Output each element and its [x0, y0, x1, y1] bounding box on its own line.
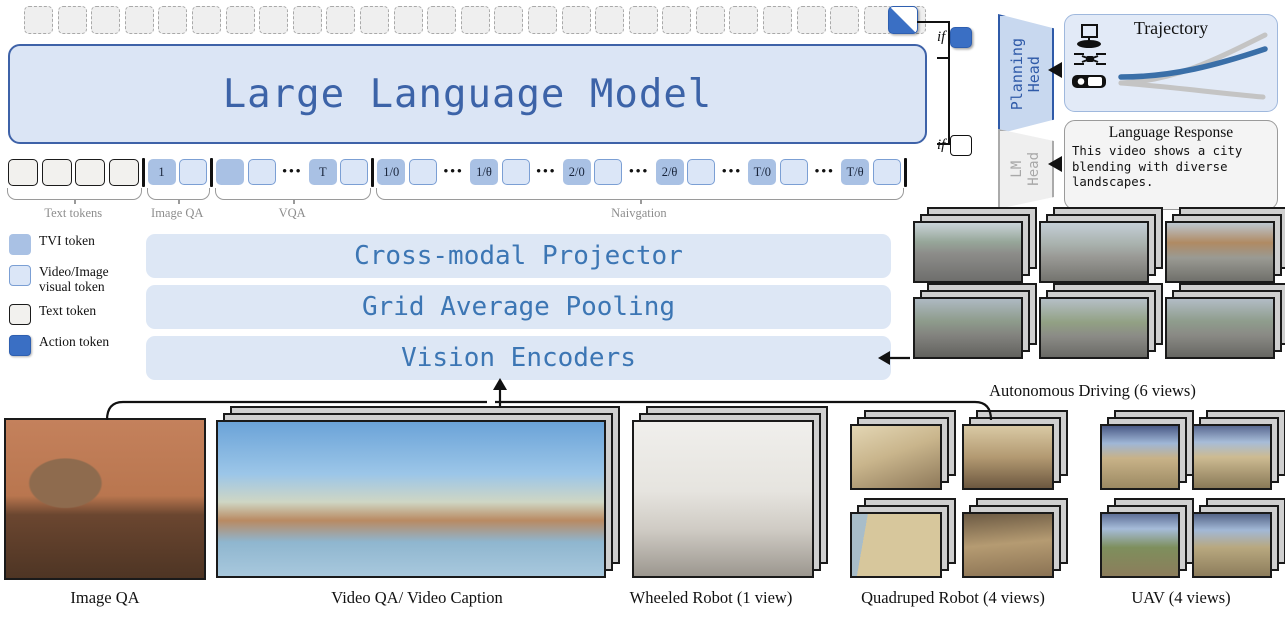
token-group-image-qa: 1: [148, 159, 208, 185]
output-placeholder-token: [259, 6, 288, 34]
legend-swatch-visual: [9, 265, 31, 286]
tvi-token: 1/0: [377, 159, 405, 185]
trajectory-curves: [1113, 31, 1273, 107]
output-placeholder-token: [662, 6, 691, 34]
visual-token: [780, 159, 808, 185]
token-group-vqa: •••T: [216, 159, 368, 185]
output-placeholder-token: [326, 6, 355, 34]
output-placeholder-token: [595, 6, 624, 34]
output-placeholder-token: [729, 6, 758, 34]
scene-image: [216, 420, 606, 578]
output-placeholder-token: [528, 6, 557, 34]
language-output-panel: Language Response This video shows a cit…: [1064, 120, 1278, 210]
if-keyword: if: [937, 29, 945, 46]
output-placeholder-token: [360, 6, 389, 34]
scene-image: [1192, 424, 1272, 490]
token-group-naivgation: 1/0•••1/θ•••2/0•••2/θ•••T/0•••T/θ: [377, 159, 900, 185]
legend-swatch-tvi: [9, 234, 31, 255]
text-token: [109, 159, 139, 186]
scene-image: [1192, 512, 1272, 578]
diagram-canvas: Large Language Model 1•••T1/0•••1/θ•••2/…: [0, 0, 1285, 621]
legend-item-visual: Video/Image visual token: [9, 264, 139, 294]
legend-label: Video/Image visual token: [39, 264, 139, 294]
input-token-row: 1•••T1/0•••1/θ•••2/0•••2/θ•••T/0•••T/θ: [8, 157, 910, 187]
bar-label: Cross-modal Projector: [354, 241, 683, 271]
output-placeholder-token: [91, 6, 120, 34]
ellipsis: •••: [279, 165, 305, 180]
visual-token: [873, 159, 901, 185]
planning-condition: if: [937, 27, 972, 48]
language-response-line: landscapes.: [1072, 175, 1272, 191]
token-group-text-tokens: [8, 159, 139, 186]
action-output-token: [888, 6, 918, 34]
bar-label: Vision Encoders: [401, 343, 636, 373]
visual-token: [340, 159, 368, 185]
scene-image: [913, 221, 1023, 283]
scene-image: [4, 418, 206, 580]
wheeled-robot-icon: [1073, 23, 1107, 49]
group-label: Naivgation: [549, 206, 729, 221]
visual-token: [594, 159, 622, 185]
visual-token: [179, 159, 207, 185]
group-brace: [215, 188, 371, 200]
token-group-separator: [142, 158, 145, 187]
action-token-swatch: [950, 27, 972, 48]
tvi-token: 2/θ: [656, 159, 684, 185]
text-token: [8, 159, 38, 186]
legend-label: Text token: [39, 303, 96, 318]
output-placeholder-token: [427, 6, 456, 34]
scene-image: [850, 512, 942, 578]
scene-image: [1165, 297, 1275, 359]
output-placeholder-token: [562, 6, 591, 34]
scene-image: [962, 512, 1054, 578]
output-placeholder-token: [293, 6, 322, 34]
scene-image: [913, 297, 1023, 359]
if-keyword: if: [937, 137, 945, 154]
scene-image: [1100, 512, 1180, 578]
visual-token: [502, 159, 530, 185]
trajectory-output-panel: Trajectory: [1064, 14, 1278, 112]
output-placeholder-token: [226, 6, 255, 34]
tvi-token: T/0: [748, 159, 776, 185]
bar-label: Grid Average Pooling: [362, 292, 675, 322]
output-placeholder-token: [24, 6, 53, 34]
tvi-token: 2/0: [563, 159, 591, 185]
quadruped-robot-caption: Quadruped Robot (4 views): [822, 588, 1084, 608]
vision-encoders-block: Vision Encoders: [146, 336, 891, 380]
scene-image: [1039, 221, 1149, 283]
group-brace: [147, 188, 211, 200]
language-response-line: This video shows a city: [1072, 144, 1272, 160]
output-placeholder-token: [830, 6, 859, 34]
visual-token: [409, 159, 437, 185]
output-token-row: [24, 6, 926, 34]
image-qa-caption: Image QA: [0, 588, 210, 608]
output-placeholder-token: [797, 6, 826, 34]
text-token-swatch: [950, 135, 972, 156]
scene-image: [1165, 221, 1275, 283]
uav-caption: UAV (4 views): [1086, 588, 1276, 608]
planning-head-label: PlanningHead: [1009, 38, 1043, 110]
cross-modal-projector-block: Cross-modal Projector: [146, 234, 891, 278]
output-placeholder-token: [494, 6, 523, 34]
token-group-separator: [210, 158, 213, 187]
drone-icon: [1070, 48, 1110, 70]
output-placeholder-token: [461, 6, 490, 34]
scene-image: [1039, 297, 1149, 359]
ellipsis: •••: [811, 165, 837, 180]
tvi-token: 1/θ: [470, 159, 498, 185]
legend-label: TVI token: [39, 233, 95, 248]
scene-image: [1100, 424, 1180, 490]
ellipsis: •••: [626, 165, 652, 180]
output-placeholder-token: [58, 6, 87, 34]
group-brace: [376, 188, 903, 200]
language-response-body: This video shows a cityblending with div…: [1072, 144, 1272, 191]
wheeled-robot-caption: Wheeled Robot (1 view): [600, 588, 822, 608]
language-response-title: Language Response: [1065, 124, 1277, 142]
llm-title: Large Language Model: [223, 72, 713, 117]
output-placeholder-token: [763, 6, 792, 34]
output-placeholder-token: [192, 6, 221, 34]
tvi-token: T: [309, 159, 337, 185]
driving-input-arrow-left: [874, 344, 914, 372]
token-legend: TVI tokenVideo/Image visual tokenText to…: [9, 233, 139, 365]
output-placeholder-token: [158, 6, 187, 34]
group-label: VQA: [202, 206, 382, 221]
tvi-token: 1: [148, 159, 176, 185]
ellipsis: •••: [533, 165, 559, 180]
data-source-bracket: [95, 398, 1105, 422]
legend-label: Action token: [39, 334, 109, 349]
tvi-token: [216, 159, 244, 185]
visual-token: [248, 159, 276, 185]
output-placeholder-token: [696, 6, 725, 34]
text-token: [75, 159, 105, 186]
legend-swatch-text: [9, 304, 31, 325]
grid-average-pooling-block: Grid Average Pooling: [146, 285, 891, 329]
token-row-end-separator: [904, 158, 907, 187]
legend-swatch-action: [9, 335, 31, 356]
language-response-line: blending with diverse: [1072, 160, 1272, 176]
lm-head-label: LMHead: [1009, 152, 1043, 186]
scene-image: [632, 420, 814, 578]
ellipsis: •••: [719, 165, 745, 180]
video-qa-caption: Video QA/ Video Caption: [212, 588, 622, 608]
tvi-token: T/θ: [841, 159, 869, 185]
output-placeholder-token: [629, 6, 658, 34]
large-language-model-block: Large Language Model: [8, 44, 927, 144]
scene-image: [850, 424, 942, 490]
legend-item-text: Text token: [9, 303, 139, 325]
scene-image: [962, 424, 1054, 490]
text-token: [42, 159, 72, 186]
car-icon: [1070, 71, 1110, 93]
output-placeholder-token: [125, 6, 154, 34]
ellipsis: •••: [440, 165, 466, 180]
visual-token: [687, 159, 715, 185]
legend-item-action: Action token: [9, 334, 139, 356]
legend-item-tvi: TVI token: [9, 233, 139, 255]
token-group-separator: [371, 158, 374, 187]
output-placeholder-token: [394, 6, 423, 34]
lm-condition: if: [937, 135, 972, 156]
group-brace: [7, 188, 142, 200]
